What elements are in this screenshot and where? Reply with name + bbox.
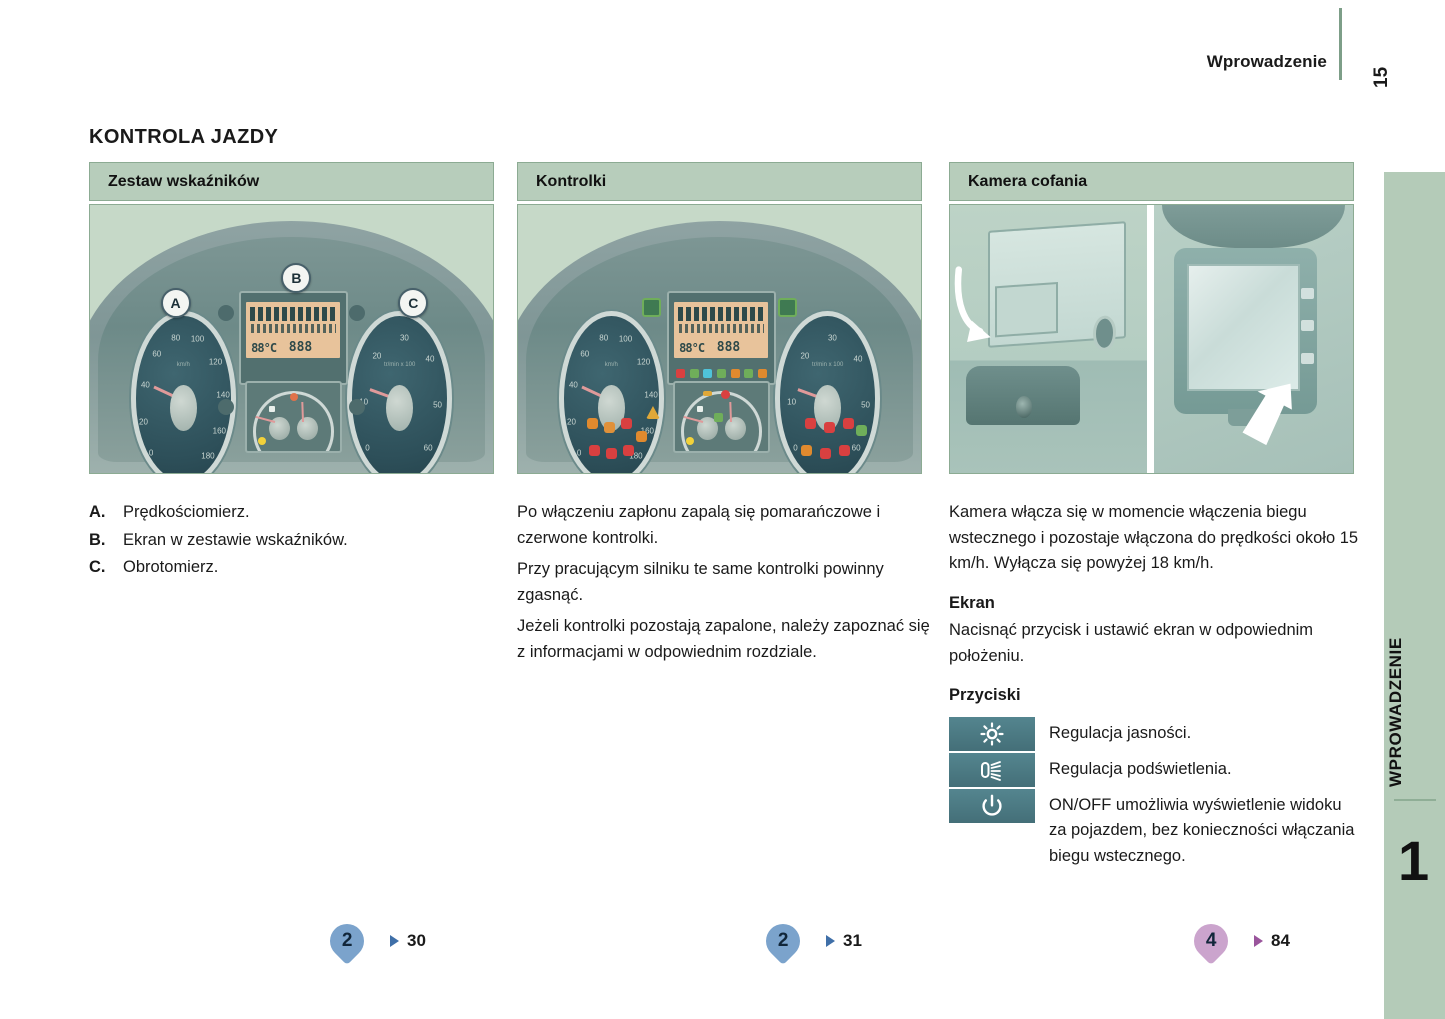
- chapter-badge-number: 2: [342, 930, 353, 952]
- display-button-backlight-icon: [1301, 320, 1314, 331]
- display-button-power-icon: [1301, 353, 1314, 364]
- telltale-amber-2-icon: [758, 369, 767, 378]
- tick-60: 60: [580, 350, 589, 359]
- reversing-camera-figure: [949, 204, 1354, 474]
- page-number: 15: [1371, 67, 1393, 88]
- paragraph: Nacisnąć przycisk i ustawić ekran w odpo…: [949, 618, 1361, 669]
- cross-reference-1[interactable]: 2 30: [330, 924, 426, 958]
- turn-signal-left-icon: [642, 298, 661, 317]
- rpm-30: 30: [400, 333, 409, 342]
- button-legend-table: Regulacja jasności. Regulacja podświetle…: [949, 717, 1361, 870]
- eco-lamp-icon: [714, 413, 723, 422]
- display-button-brightness-icon: [1301, 288, 1314, 299]
- xref-arrow-icon: [826, 935, 835, 947]
- amber-strip-lamp-icon: [703, 391, 712, 396]
- tick-100: 100: [619, 335, 632, 344]
- panel-reversing-camera: Kamera cofania: [949, 162, 1354, 474]
- fuel-and-temp-mini-gauges: [673, 381, 770, 453]
- xref-page-number: 84: [1271, 931, 1290, 951]
- arrow-to-display-icon: [1234, 355, 1294, 468]
- xref-arrow-icon: [390, 935, 399, 947]
- warning-lamp-engine-icon: [843, 418, 854, 429]
- legend-text: Ekran w zestawie wskaźników.: [123, 528, 348, 554]
- warning-lamp-brake-pad-icon: [604, 422, 615, 433]
- tick-100: 100: [191, 335, 204, 344]
- telltale-blue-icon: [703, 369, 712, 378]
- cluster-lcd-screen: 88°C 888: [246, 302, 340, 358]
- callout-a: A: [161, 288, 191, 318]
- callout-b: B: [281, 263, 311, 293]
- button-description: Regulacja jasności.: [1049, 717, 1191, 747]
- warning-lamp-service-icon: [839, 445, 850, 456]
- legend-text: Obrotomierz.: [123, 555, 218, 581]
- legend-list: A. Prędkościomierz. B. Ekran w zestawie …: [89, 500, 501, 583]
- cluster-lcd-screen: 88°C 888: [674, 302, 768, 358]
- rpm-40: 40: [426, 355, 435, 364]
- tachometer-gauge: tr/min x 100 0 10 20 30 40 50 60: [775, 311, 880, 474]
- telltale-red-1-icon: [676, 369, 685, 378]
- subheading-screen: Ekran: [949, 591, 1361, 617]
- telltale-green-1-icon: [690, 369, 699, 378]
- cross-reference-2[interactable]: 2 31: [766, 924, 862, 958]
- xref-page-number: 31: [843, 931, 862, 951]
- tick-0: 0: [149, 448, 153, 457]
- chapter-badge-number: 2: [778, 930, 789, 952]
- telltale-green-2-icon: [717, 369, 726, 378]
- chapter-thumb-tab-divider: [1394, 799, 1436, 801]
- paragraph: Jeżeli kontrolki pozostają zapalone, nal…: [517, 614, 937, 665]
- unlit-lamp-right-top: [349, 305, 365, 321]
- rpm-60: 60: [852, 443, 861, 452]
- rpm-50: 50: [861, 401, 870, 410]
- panel-warning-lamps: Kontrolki km/h 0 20 40 60 80 100 120 140…: [517, 162, 922, 474]
- chapter-badge: 2: [323, 917, 371, 965]
- rpm-20: 20: [372, 351, 381, 360]
- rpm-40: 40: [854, 355, 863, 364]
- speedometer-gauge: km/h 0 20 40 60 80 100 120 140 160 180: [559, 311, 664, 474]
- curved-arrow-to-camera-icon: [954, 226, 1013, 387]
- telltale-amber-1-icon: [731, 369, 740, 378]
- fuel-and-temp-mini-gauges: [245, 381, 342, 453]
- temp-gauge-hub: [297, 417, 317, 440]
- warning-lamp-door-icon: [824, 422, 835, 433]
- xref-page-number: 30: [407, 931, 426, 951]
- tick-40: 40: [569, 381, 578, 390]
- brightness-sun-icon: [980, 722, 1004, 746]
- legend-text: Prędkościomierz.: [123, 500, 250, 526]
- temp-gauge-needle: [301, 402, 304, 422]
- button-description: ON/OFF umożliwia wyświetlenie widoku za …: [1049, 789, 1361, 870]
- camera-screen-illustration: [1154, 205, 1353, 473]
- lcd-fuel-bargraph: [250, 307, 336, 322]
- xref-arrow-icon: [1254, 935, 1263, 947]
- power-button[interactable]: [949, 789, 1035, 823]
- sun-visor: [1162, 205, 1345, 248]
- temp-gauge-needle: [729, 402, 732, 422]
- speedometer-unit-label: km/h: [605, 362, 618, 368]
- rpm-0: 0: [365, 443, 369, 452]
- button-legend-row: ON/OFF umożliwia wyświetlenie widoku za …: [949, 789, 1361, 870]
- warning-lamp-oil-icon: [606, 448, 617, 459]
- cross-reference-3[interactable]: 4 84: [1194, 924, 1290, 958]
- chapter-thumb-tab-label: WPROWADZENIE: [1386, 637, 1406, 787]
- chapter-badge: 2: [759, 917, 807, 965]
- rpm-10: 10: [787, 397, 796, 406]
- speedometer-gauge: km/h 0 20 40 60 80 100 120 140 160 180: [131, 311, 236, 474]
- tick-20: 20: [139, 417, 148, 426]
- warning-lamp-seatbelt-icon: [805, 418, 816, 429]
- paragraph: Kamera włącza się w momencie włączenia b…: [949, 500, 1361, 577]
- instrument-cluster-figure: km/h 0 20 40 60 80 100 120 140 160 180 t: [89, 204, 494, 474]
- legend-key: B.: [89, 528, 123, 554]
- warning-lamps-cluster-figure: km/h 0 20 40 60 80 100 120 140 160 180: [517, 204, 922, 474]
- subheading-buttons: Przyciski: [949, 683, 1361, 709]
- indicator-lamp-icon: [269, 406, 275, 412]
- legend-item: A. Prędkościomierz.: [89, 500, 501, 526]
- telltale-green-3-icon: [744, 369, 753, 378]
- temp-gauge-hub: [725, 417, 745, 440]
- tick-40: 40: [141, 381, 150, 390]
- cluster-display-box: 88°C 888: [667, 291, 775, 385]
- backlight-button[interactable]: [949, 753, 1035, 787]
- rpm-0: 0: [793, 443, 797, 452]
- speedometer-unit-label: km/h: [177, 362, 190, 368]
- warning-lamp-fuel-icon: [801, 445, 812, 456]
- camera-lens: [1016, 396, 1032, 417]
- button-legend-row: Regulacja jasności.: [949, 717, 1361, 751]
- lcd-secondary-segments: [251, 324, 336, 333]
- camera-display-buttons: [1301, 278, 1314, 374]
- tick-60: 60: [152, 350, 161, 359]
- warning-lamp-abs-icon: [587, 418, 598, 429]
- rpm-50: 50: [433, 401, 442, 410]
- tick-180: 180: [201, 452, 214, 461]
- unlit-lamp-left-top: [218, 305, 234, 321]
- power-on-off-icon: [980, 794, 1004, 818]
- tachometer-gauge: tr/min x 100 0 10 20 30 40 50 60: [347, 311, 452, 474]
- indicator-lamp-icon: [697, 406, 703, 412]
- warning-lamp-battery-icon: [589, 445, 600, 456]
- legend-key: C.: [89, 555, 123, 581]
- section-title: KONTROLA JAZDY: [89, 126, 278, 149]
- tick-80: 80: [599, 333, 608, 342]
- legend-key: A.: [89, 500, 123, 526]
- warning-lamp-stop-icon: [820, 448, 831, 459]
- chapter-thumb-tab: WPROWADZENIE 1: [1384, 172, 1445, 1019]
- reversing-camera-text: Kamera włącza się w momencie włączenia b…: [949, 500, 1361, 871]
- warning-lamp-airbag-icon: [621, 418, 632, 429]
- lcd-temperature-value: 88°C: [679, 341, 704, 355]
- chapter-thumb-tab-number: 1: [1398, 833, 1429, 889]
- running-head: Wprowadzenie: [1207, 52, 1327, 72]
- tachometer-unit-label: tr/min x 100: [384, 362, 415, 368]
- tick-120: 120: [637, 358, 650, 367]
- lcd-odometer-value: 888: [289, 340, 312, 355]
- panel-heading: Kamera cofania: [949, 162, 1354, 201]
- backlight-beam-icon: [979, 759, 1005, 781]
- chapter-badge: 4: [1187, 917, 1235, 965]
- warning-lamp-green-icon: [856, 425, 867, 436]
- lcd-odometer-value: 888: [717, 340, 740, 355]
- paragraph: Po włączeniu zapłonu zapalą się pomarańc…: [517, 500, 937, 551]
- tick-160: 160: [213, 427, 226, 436]
- panel-instrument-cluster: Zestaw wskaźników km/h 0 20 40 60 80 100…: [89, 162, 494, 474]
- tick-20: 20: [567, 417, 576, 426]
- cluster-display-box: 88°C 888: [239, 291, 347, 385]
- temp-warning-lamp-icon: [290, 393, 298, 401]
- speedometer-hub: [170, 385, 197, 431]
- legend-item: C. Obrotomierz.: [89, 555, 501, 581]
- chapter-badge-number: 4: [1206, 930, 1217, 952]
- rpm-20: 20: [800, 351, 809, 360]
- van-rear-wheel: [1092, 315, 1115, 352]
- button-description: Regulacja podświetlenia.: [1049, 753, 1232, 783]
- tick-140: 140: [644, 391, 657, 400]
- brightness-button[interactable]: [949, 717, 1035, 751]
- camera-location-illustration: [950, 205, 1147, 473]
- header-rule: [1339, 8, 1342, 80]
- panel-heading: Kontrolki: [517, 162, 922, 201]
- tachometer-unit-label: tr/min x 100: [812, 362, 843, 368]
- lcd-telltale-row: [673, 367, 769, 380]
- tick-80: 80: [171, 333, 180, 342]
- tachometer-hub: [386, 385, 413, 431]
- panel-heading: Zestaw wskaźników: [89, 162, 494, 201]
- legend-item: B. Ekran w zestawie wskaźników.: [89, 528, 501, 554]
- button-legend-row: Regulacja podświetlenia.: [949, 753, 1361, 787]
- lcd-temperature-value: 88°C: [251, 341, 276, 355]
- rpm-30: 30: [828, 333, 837, 342]
- warning-lamp-preheat-icon: [636, 431, 647, 442]
- lcd-secondary-segments: [679, 324, 764, 333]
- tick-0: 0: [577, 448, 581, 457]
- warning-lamp-handbrake-icon: [623, 445, 634, 456]
- warning-lamps-text: Po włączeniu zapłonu zapalą się pomarańc…: [517, 500, 937, 671]
- rpm-60: 60: [424, 443, 433, 452]
- tick-120: 120: [209, 358, 222, 367]
- turn-signal-right-icon: [778, 298, 797, 317]
- paragraph: Przy pracującym silniku te same kontrolk…: [517, 557, 937, 608]
- lcd-fuel-bargraph: [678, 307, 764, 322]
